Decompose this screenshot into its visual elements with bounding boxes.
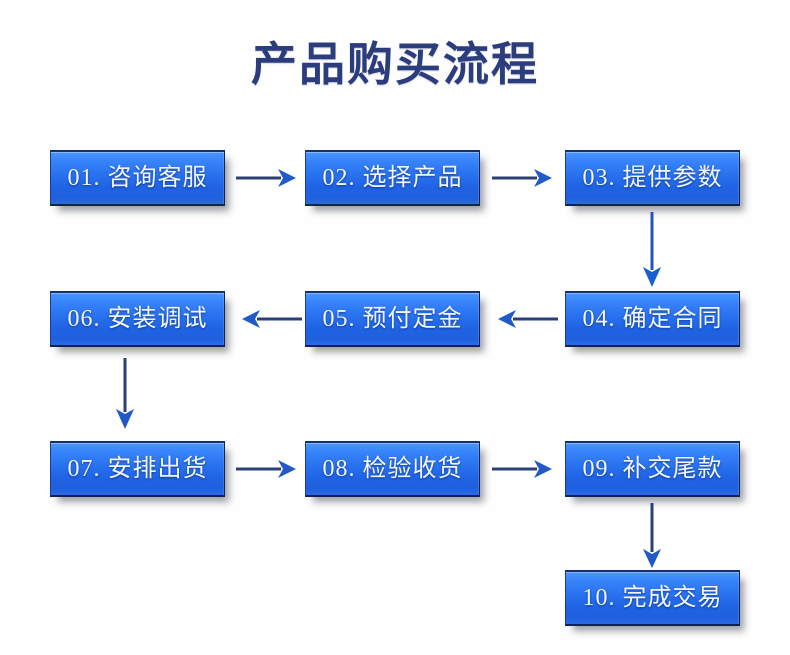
arrow-right-icon-step-01-to-step-02 (236, 165, 298, 191)
flow-node-label: 06. 安装调试 (68, 307, 208, 331)
arrow-down-icon-step-09-to-step-10 (639, 503, 665, 569)
flow-node-step-02[interactable]: 02. 选择产品 (305, 150, 480, 206)
flow-node-label: 01. 咨询客服 (68, 166, 208, 190)
flow-node-step-01[interactable]: 01. 咨询客服 (50, 150, 225, 206)
flow-node-step-04[interactable]: 04. 确定合同 (565, 291, 740, 347)
flow-node-step-07[interactable]: 07. 安排出货 (50, 441, 225, 497)
flow-node-step-05[interactable]: 05. 预付定金 (305, 291, 480, 347)
flow-node-label: 08. 检验收货 (323, 457, 463, 481)
arrow-left-icon-step-04-to-step-05 (496, 306, 558, 332)
flow-node-label: 02. 选择产品 (323, 166, 463, 190)
arrow-left-icon-step-05-to-step-06 (240, 306, 302, 332)
page-title: 产品购买流程 (0, 28, 790, 94)
flow-node-label: 03. 提供参数 (583, 166, 723, 190)
flowchart-canvas: 产品购买流程 01. 咨询客服 02. 选择产品 03. 提供参数 06. 安装… (0, 0, 790, 655)
arrow-right-icon-step-08-to-step-09 (492, 456, 554, 482)
arrow-right-icon-step-02-to-step-03 (492, 165, 554, 191)
flow-node-label: 05. 预付定金 (323, 307, 463, 331)
arrow-right-icon-step-07-to-step-08 (236, 456, 298, 482)
flow-node-label: 04. 确定合同 (583, 307, 723, 331)
arrow-down-icon-step-06-to-step-07 (112, 358, 138, 430)
flow-node-label: 10. 完成交易 (583, 586, 723, 610)
flow-node-step-03[interactable]: 03. 提供参数 (565, 150, 740, 206)
flow-node-step-09[interactable]: 09. 补交尾款 (565, 441, 740, 497)
flow-node-step-08[interactable]: 08. 检验收货 (305, 441, 480, 497)
flow-node-label: 09. 补交尾款 (583, 457, 723, 481)
flow-node-step-06[interactable]: 06. 安装调试 (50, 291, 225, 347)
flow-node-label: 07. 安排出货 (68, 457, 208, 481)
arrow-down-icon-step-03-to-step-04 (639, 212, 665, 288)
flow-node-step-10[interactable]: 10. 完成交易 (565, 570, 740, 626)
